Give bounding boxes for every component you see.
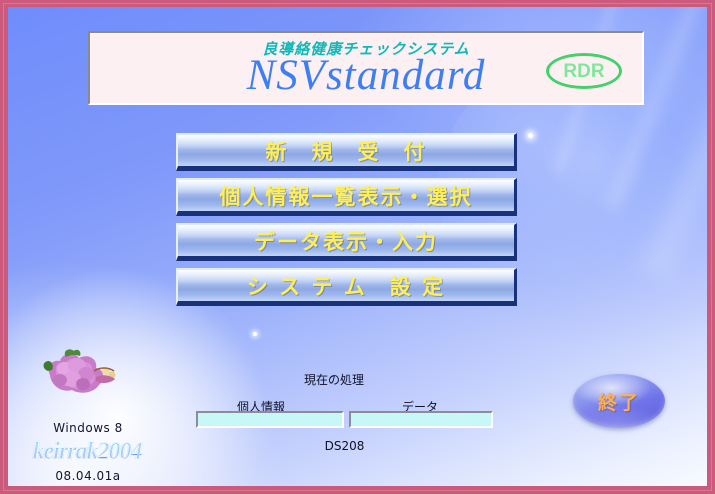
menu-button-label: シ ス テ ム 設 定 [247,271,445,301]
system-settings-button[interactable]: シ ス テ ム 設 定 [176,268,517,306]
sparkle-icon [528,133,533,138]
main-menu: 新 規 受 付 個人情報一覧表示・選択 データ表示・入力 シ ス テ ム 設 定 [176,133,525,313]
menu-button-label: 新 規 受 付 [266,136,427,166]
exit-button-label: 終了 [598,388,640,415]
background-bubble [533,102,653,222]
sparkle-icon [253,332,257,336]
menu-button-label: データ表示・入力 [254,226,438,256]
data-field[interactable] [349,411,493,428]
os-version-label: Windows 8 [28,421,148,435]
new-registration-button[interactable]: 新 規 受 付 [176,133,517,171]
flower-bouquet-icon [36,341,128,403]
device-id-label: DS208 [196,439,493,453]
app-version-label: 08.04.01a [28,469,148,483]
title-panel: 良導絡健康チェックシステム NSVstandard RDR [88,31,644,105]
application-window: 良導絡健康チェックシステム NSVstandard RDR 新 規 受 付 個人… [0,0,715,494]
data-display-input-button[interactable]: データ表示・入力 [176,223,517,261]
personal-info-list-button[interactable]: 個人情報一覧表示・選択 [176,178,517,216]
app-background: 良導絡健康チェックシステム NSVstandard RDR 新 規 受 付 個人… [8,7,707,486]
menu-button-label: 個人情報一覧表示・選択 [220,181,473,211]
rdr-logo-icon: RDR [546,53,622,89]
current-processing-heading: 現在の処理 [304,371,364,388]
exit-button[interactable]: 終了 [573,374,665,428]
vendor-logo: keirrak2004 [22,439,152,466]
personal-info-field[interactable] [196,411,344,428]
